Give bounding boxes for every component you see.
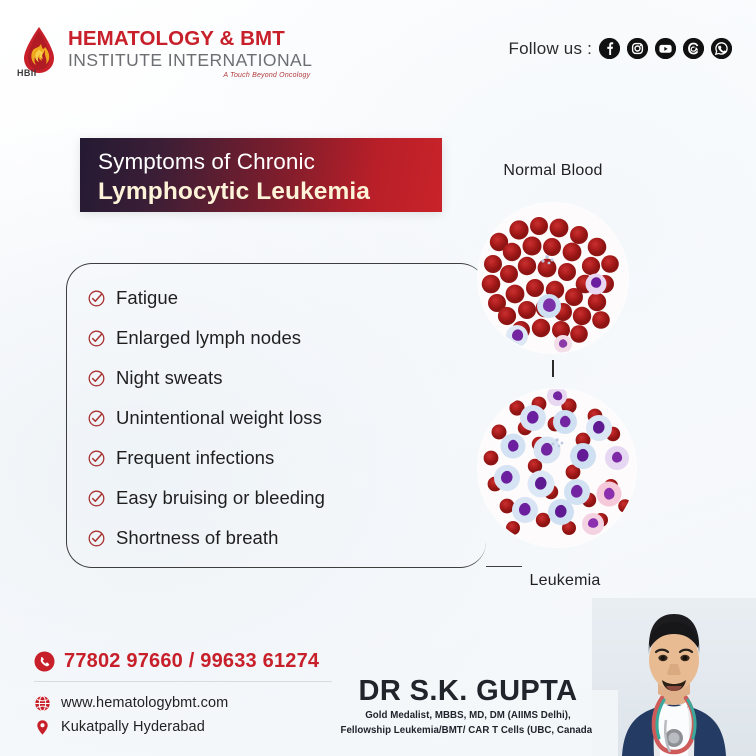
circle-check-icon bbox=[88, 330, 105, 347]
title-banner: Symptoms of Chronic Lymphocytic Leukemia bbox=[80, 138, 442, 212]
brand-logo[interactable]: HBII HEMATOLOGY & BMT INSTITUTE INTERNAT… bbox=[14, 26, 312, 88]
symptom-label: Easy bruising or bleeding bbox=[116, 487, 325, 509]
symptom-label: Shortness of breath bbox=[116, 527, 278, 549]
symptom-label: Fatigue bbox=[116, 287, 178, 309]
circle-check-icon bbox=[88, 490, 105, 507]
image-connector-line bbox=[552, 360, 554, 377]
symptoms-list: Fatigue Enlarged lymph nodes Night sweat… bbox=[88, 278, 418, 558]
location-row[interactable]: Kukatpally Hyderabad bbox=[34, 715, 364, 739]
poster-canvas: HBII HEMATOLOGY & BMT INSTITUTE INTERNAT… bbox=[0, 0, 756, 756]
brand-name-line1: HEMATOLOGY & BMT bbox=[68, 28, 312, 50]
doctor-portrait-photo bbox=[592, 598, 756, 756]
banner-line2: Lymphocytic Leukemia bbox=[98, 176, 442, 208]
symptom-label: Enlarged lymph nodes bbox=[116, 327, 301, 349]
contact-divider bbox=[34, 681, 332, 682]
leukemia-label: Leukemia bbox=[465, 572, 665, 590]
banner-line1: Symptoms of Chronic bbox=[98, 148, 442, 176]
blood-drop-flame-icon bbox=[20, 26, 58, 74]
circle-check-icon bbox=[88, 370, 105, 387]
phone-row[interactable]: 77802 97660 / 99633 61274 bbox=[34, 650, 364, 673]
logo-mark: HBII bbox=[14, 26, 64, 88]
symptom-label: Night sweats bbox=[116, 367, 223, 389]
map-pin-icon bbox=[34, 719, 51, 736]
brand-name-line2: INSTITUTE INTERNATIONAL bbox=[68, 50, 312, 70]
doctor-info: DR S.K. GUPTA Gold Medalist, MBBS, MD, D… bbox=[318, 676, 618, 738]
circle-check-icon bbox=[88, 450, 105, 467]
instagram-icon[interactable] bbox=[627, 38, 648, 59]
symptom-label: Unintentional weight loss bbox=[116, 407, 322, 429]
circle-check-icon bbox=[88, 530, 105, 547]
facebook-icon[interactable] bbox=[599, 38, 620, 59]
list-item: Frequent infections bbox=[88, 438, 418, 478]
list-item: Easy bruising or bleeding bbox=[88, 478, 418, 518]
threads-icon[interactable] bbox=[683, 38, 704, 59]
website-url: www.hematologybmt.com bbox=[61, 695, 228, 711]
contact-block: 77802 97660 / 99633 61274 www.hematology… bbox=[34, 650, 364, 739]
logo-abbrev: HBII bbox=[17, 68, 37, 78]
doctor-credentials-line1: Gold Medalist, MBBS, MD, DM (AIIMS Delhi… bbox=[318, 709, 618, 723]
list-item: Shortness of breath bbox=[88, 518, 418, 558]
youtube-icon[interactable] bbox=[655, 38, 676, 59]
follow-us-group: Follow us : bbox=[509, 38, 732, 59]
list-item: Night sweats bbox=[88, 358, 418, 398]
phone-icon bbox=[34, 651, 55, 672]
normal-blood-illustration bbox=[477, 202, 629, 354]
list-item: Unintentional weight loss bbox=[88, 398, 418, 438]
normal-blood-label: Normal Blood bbox=[453, 162, 653, 180]
brand-wordmark: HEMATOLOGY & BMT INSTITUTE INTERNATIONAL… bbox=[68, 26, 312, 79]
website-row[interactable]: www.hematologybmt.com bbox=[34, 691, 364, 715]
circle-check-icon bbox=[88, 410, 105, 427]
location-text: Kukatpally Hyderabad bbox=[61, 719, 205, 735]
doctor-credentials-line2: Fellowship Leukemia/BMT/ CAR T Cells (UB… bbox=[318, 724, 618, 738]
phone-number: 77802 97660 / 99633 61274 bbox=[64, 650, 319, 673]
globe-icon bbox=[34, 695, 51, 712]
list-item: Enlarged lymph nodes bbox=[88, 318, 418, 358]
circle-check-icon bbox=[88, 290, 105, 307]
follow-us-label: Follow us : bbox=[509, 39, 592, 59]
header: HBII HEMATOLOGY & BMT INSTITUTE INTERNAT… bbox=[0, 0, 756, 108]
whatsapp-icon[interactable] bbox=[711, 38, 732, 59]
card-bottom-connector bbox=[486, 566, 522, 567]
list-item: Fatigue bbox=[88, 278, 418, 318]
symptom-label: Frequent infections bbox=[116, 447, 274, 469]
leukemia-blood-illustration bbox=[477, 388, 637, 548]
doctor-name: DR S.K. GUPTA bbox=[318, 676, 618, 706]
brand-tagline: A Touch Beyond Oncology bbox=[68, 72, 312, 79]
